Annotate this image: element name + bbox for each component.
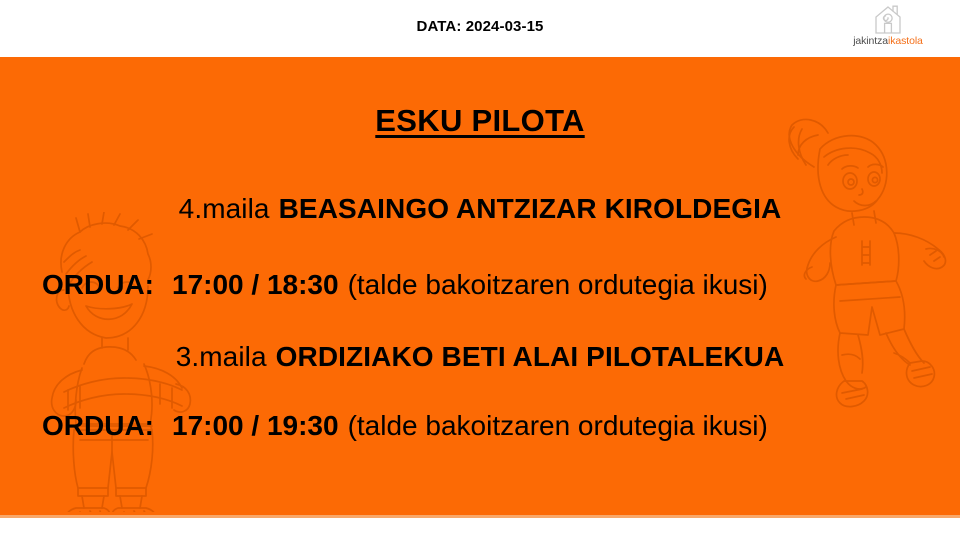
house-icon: [871, 3, 905, 35]
venue-line-2: 3.mailaORDIZIAKO BETI ALAI PILOTALEKUA: [0, 341, 960, 373]
hour-times-1: 17:00 / 18:30: [172, 269, 339, 300]
band-bottom-rule: [0, 515, 960, 518]
hour-note-2: (talde bakoitzaren ordutegia ikusi): [348, 410, 768, 441]
page-title-text: ESKU PILOTA: [375, 103, 584, 138]
slide-header: DATA: 2024-03-15 jakintza: [0, 0, 960, 57]
slide-root: DATA: 2024-03-15 jakintza: [0, 0, 960, 540]
venue-name-1: BEASAINGO ANTZIZAR KIROLDEGIA: [279, 193, 782, 224]
hour-label-1: ORDUA:: [42, 269, 154, 300]
logo: jakintzaikastola: [836, 3, 940, 53]
date-label: DATA: 2024-03-15: [0, 18, 960, 35]
slide-content: ESKU PILOTA 4.mailaBEASAINGO ANTZIZAR KI…: [0, 57, 960, 515]
venue-name-2: ORDIZIAKO BETI ALAI PILOTALEKUA: [276, 341, 785, 372]
hour-note-1: (talde bakoitzaren ordutegia ikusi): [348, 269, 768, 300]
logo-text-primary: jakintza: [853, 35, 888, 47]
grade-label-2: 3.maila: [176, 341, 267, 372]
logo-text: jakintzaikastola: [836, 36, 940, 47]
hour-line-1: ORDUA:17:00 / 18:30(talde bakoitzaren or…: [42, 269, 942, 301]
logo-text-accent: ikastola: [888, 35, 923, 47]
venue-line-1: 4.mailaBEASAINGO ANTZIZAR KIROLDEGIA: [0, 193, 960, 225]
hour-times-2: 17:00 / 19:30: [172, 410, 339, 441]
grade-label-1: 4.maila: [179, 193, 270, 224]
orange-content-band: ESKU PILOTA 4.mailaBEASAINGO ANTZIZAR KI…: [0, 57, 960, 515]
page-title: ESKU PILOTA: [0, 103, 960, 139]
hour-line-2: ORDUA:17:00 / 19:30(talde bakoitzaren or…: [42, 410, 942, 442]
hour-label-2: ORDUA:: [42, 410, 154, 441]
